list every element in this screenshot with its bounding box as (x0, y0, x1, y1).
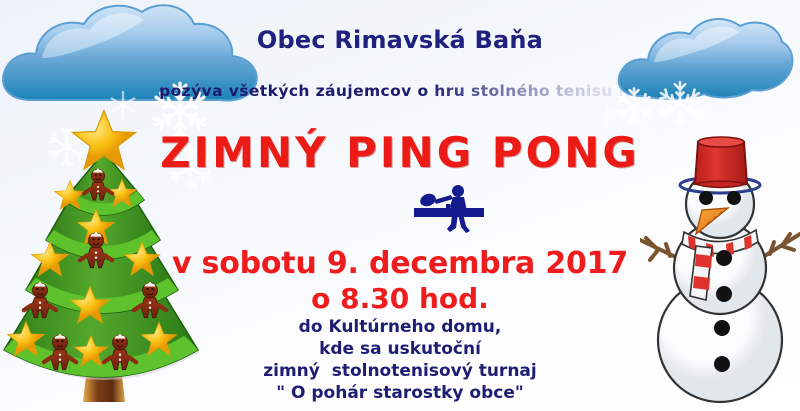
snowflake-icon-8 (690, 100, 718, 128)
event-title: ZIMNÝ PING PONG (0, 128, 800, 177)
snowflake-icon-7 (592, 100, 622, 130)
invitation-line: pozýva všetkých záujemcov o hru stolného… (0, 82, 800, 100)
detail-line-4: " O pohár starostky obce" (0, 382, 800, 404)
detail-line-3: zimný stolnotenisový turnaj (0, 360, 800, 382)
event-details: do Kultúrneho domu, kde sa uskutoční zim… (0, 316, 800, 404)
page-title: Obec Rimavská Baňa (0, 26, 800, 54)
event-time: o 8.30 hod. (0, 282, 800, 315)
detail-line-1: do Kultúrneho domu, (0, 316, 800, 338)
event-date: v sobotu 9. decembra 2017 (0, 246, 800, 281)
detail-line-2: kde sa uskutoční (0, 338, 800, 360)
table-tennis-player-icon (412, 184, 490, 238)
winter-ping-pong-poster: Obec Rimavská Baňa pozýva všetkých záuje… (0, 0, 800, 411)
invitation-text: pozýva všetkých záujemcov o hru stolného… (159, 82, 641, 100)
